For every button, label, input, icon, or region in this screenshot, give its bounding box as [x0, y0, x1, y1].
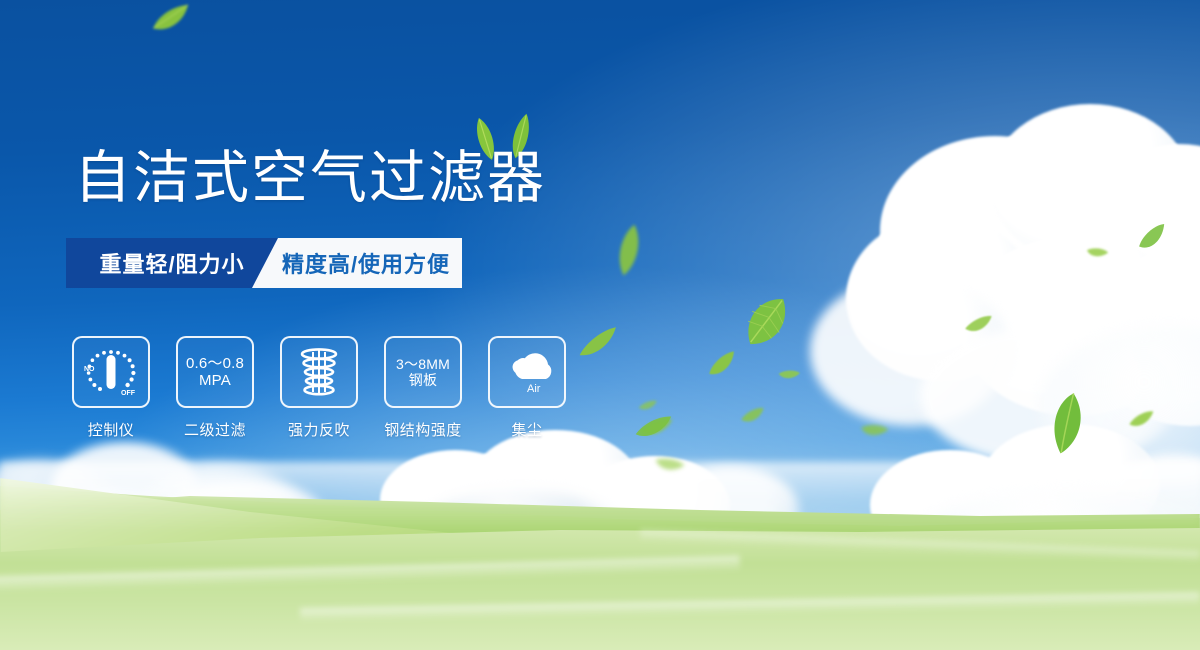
steel-plate-text-icon: 3～8MM 钢板 — [396, 356, 450, 388]
hero-banner: 自洁式空气过滤器 重量轻/阻力小 精度高/使用方便 — [0, 0, 1200, 650]
steel-material: 钢板 — [396, 372, 450, 388]
feature-row: NO OFF 控制仪 0.6～0.8 MPA 二级过滤 — [72, 336, 566, 440]
dial-label-off: OFF — [121, 390, 136, 397]
coil-blowback-icon — [293, 346, 345, 398]
subtitle-left-label: 重量轻/阻力小 — [99, 247, 244, 279]
cloud-air-label: Air — [527, 383, 541, 395]
subtitle-right-segment: 精度高/使用方便 — [252, 238, 462, 288]
feature-icon-box: NO OFF — [72, 336, 150, 408]
pressure-text-icon: 0.6～0.8 MPA — [186, 355, 244, 389]
feature-icon-box: Air — [488, 336, 566, 408]
banner-content: 自洁式空气过滤器 重量轻/阻力小 精度高/使用方便 — [0, 0, 1200, 650]
dial-gauge-icon: NO OFF — [81, 345, 141, 399]
cloud-air-icon: Air — [497, 345, 557, 399]
feature-item-blowback: 强力反吹 — [280, 336, 358, 440]
feature-icon-box — [280, 336, 358, 408]
feature-item-control: NO OFF 控制仪 — [72, 336, 150, 440]
page-title: 自洁式空气过滤器 — [74, 146, 546, 210]
feature-item-steel: 3～8MM 钢板 钢结构强度 — [384, 336, 462, 440]
dial-label-no: NO — [84, 366, 95, 373]
feature-icon-box: 0.6～0.8 MPA — [176, 336, 254, 408]
feature-caption: 钢结构强度 — [384, 419, 462, 440]
feature-item-dust: Air 集尘 — [488, 336, 566, 440]
feature-caption: 二级过滤 — [184, 419, 246, 440]
feature-item-pressure: 0.6～0.8 MPA 二级过滤 — [176, 336, 254, 440]
steel-thickness: 3～8MM — [396, 356, 450, 372]
feature-caption: 集尘 — [511, 419, 542, 440]
subtitle-bar: 重量轻/阻力小 精度高/使用方便 — [66, 238, 462, 288]
feature-icon-box: 3～8MM 钢板 — [384, 336, 462, 408]
feature-caption: 强力反吹 — [288, 419, 350, 440]
subtitle-right-label: 精度高/使用方便 — [282, 247, 450, 279]
pressure-value: 0.6～0.8 — [186, 355, 244, 372]
feature-caption: 控制仪 — [88, 419, 135, 440]
pressure-unit: MPA — [186, 372, 244, 389]
subtitle-left-segment: 重量轻/阻力小 — [66, 238, 278, 288]
